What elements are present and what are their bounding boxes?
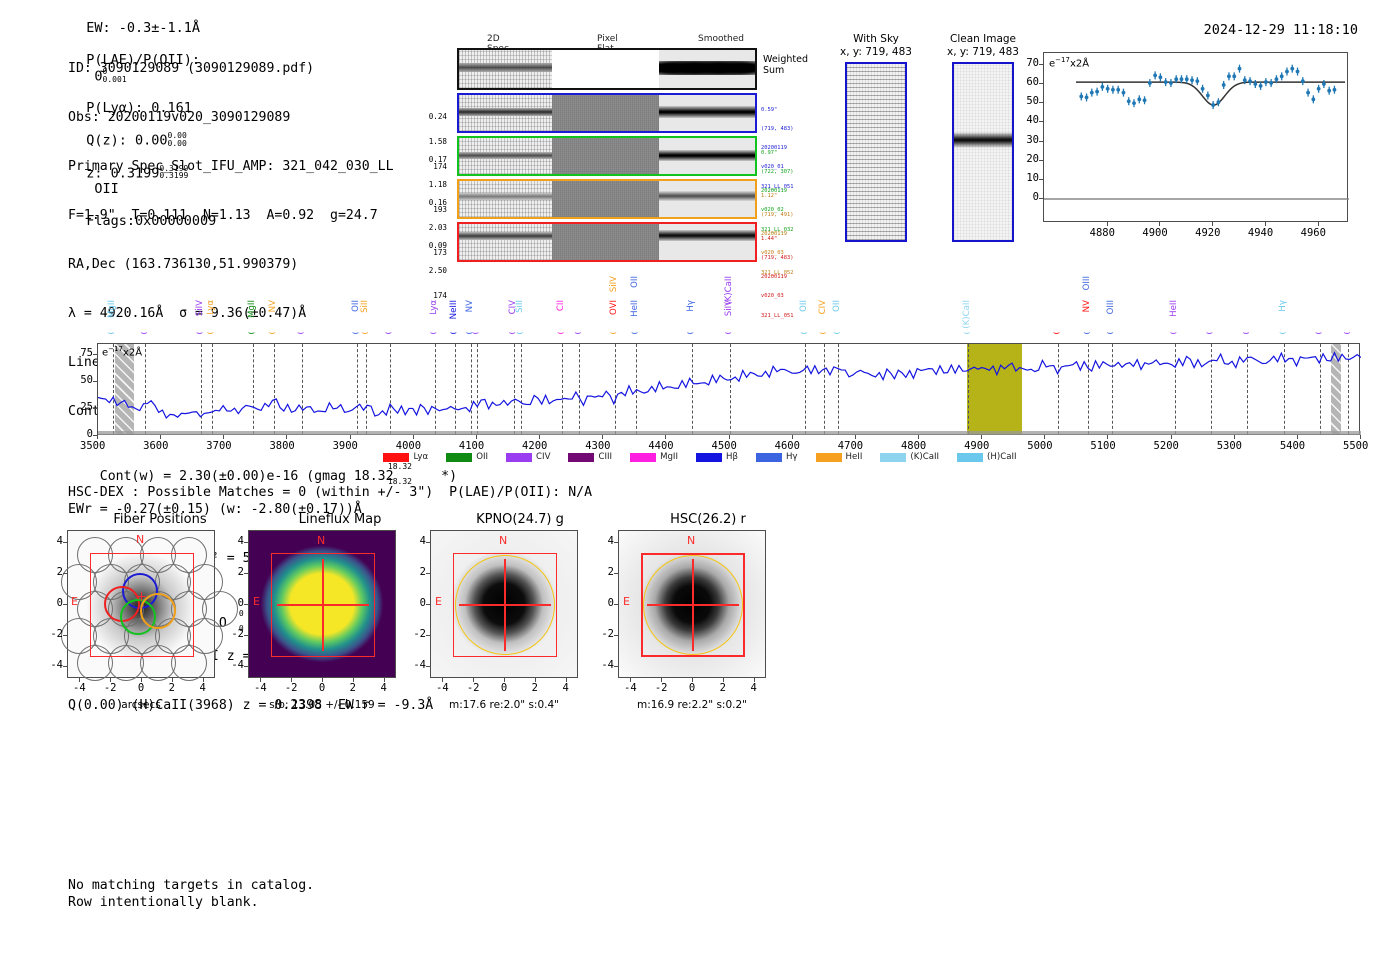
tick-label: 2 bbox=[714, 682, 732, 694]
line-brace: ⌣ bbox=[269, 326, 276, 340]
with-sky-image bbox=[845, 62, 907, 242]
tick-label: 2 bbox=[43, 566, 63, 578]
legend-label: CIII bbox=[598, 452, 612, 462]
x-tick bbox=[1318, 222, 1319, 226]
timestamp: 2024-12-29 11:18:10 bbox=[1204, 22, 1358, 38]
y-tick bbox=[93, 381, 97, 382]
panel-y-tick bbox=[426, 635, 430, 636]
panel-y-tick bbox=[244, 635, 248, 636]
spectrum-line-label-CIV: CIV bbox=[818, 300, 828, 314]
fiber-1-meta-1: (719, 483) bbox=[761, 126, 793, 132]
fiber-row-4 bbox=[457, 222, 757, 262]
tick-label: 4 bbox=[375, 682, 393, 694]
fiber-4-meta-1: (719, 483) bbox=[761, 255, 793, 261]
tick-label: 4920 bbox=[1195, 227, 1220, 239]
line-brace: ⌣ bbox=[196, 326, 203, 340]
panel-y-tick bbox=[244, 573, 248, 574]
tick-label: -4 bbox=[70, 682, 88, 694]
spectrum-line-label-NV: NV bbox=[268, 300, 278, 312]
fiber-positions-plot: N E bbox=[67, 530, 215, 678]
tick-label: 4400 bbox=[648, 440, 673, 452]
line-brace: ⌣ bbox=[1343, 326, 1350, 340]
legend-label: MgII bbox=[660, 452, 678, 462]
spectrum-line-label-OVI: OVI bbox=[609, 300, 619, 315]
spectrum-line-label-OII: OII bbox=[799, 300, 809, 312]
legend-swatch bbox=[446, 453, 472, 462]
tick-label: 2 bbox=[594, 566, 614, 578]
compass-e-3: E bbox=[435, 595, 442, 608]
spectrum-line-label-HeII: HeII bbox=[1169, 300, 1179, 317]
tick-label: 4200 bbox=[522, 440, 547, 452]
tick-label: 4 bbox=[745, 682, 763, 694]
line-brace: ⌣ bbox=[1279, 326, 1286, 340]
line-brace: ⌣ bbox=[1083, 326, 1090, 340]
line-brace: ⌣ bbox=[963, 326, 970, 340]
y-tick bbox=[1039, 64, 1043, 65]
line-brace: ⌣ bbox=[516, 326, 523, 340]
plae-frac-top: 0 bbox=[239, 609, 244, 618]
fiber-3-stat-0: 0.16 bbox=[399, 199, 447, 207]
line-brace: ⌣ bbox=[207, 326, 214, 340]
panel-y-tick bbox=[426, 542, 430, 543]
tick-label: 4880 bbox=[1090, 227, 1115, 239]
tick-label: -4 bbox=[433, 682, 451, 694]
spectrum-line-label-NV: NV bbox=[1082, 300, 1092, 312]
tick-label: 50 bbox=[71, 374, 93, 386]
weighted-sum-smoothed bbox=[659, 50, 755, 88]
tick-label: 4 bbox=[224, 535, 244, 547]
tick-label: -2 bbox=[224, 628, 244, 640]
tick-label: -4 bbox=[621, 682, 639, 694]
legend-label: HeII bbox=[846, 452, 863, 462]
info-line-id: ID: 3090129089 (3090129089.pdf) bbox=[68, 61, 457, 77]
tick-label: 4 bbox=[43, 535, 63, 547]
tick-label: 2 bbox=[224, 566, 244, 578]
tick-label: 4500 bbox=[712, 440, 737, 452]
tick-label: 4900 bbox=[964, 440, 989, 452]
spectrum-line-label-SiIV: SiIV bbox=[195, 300, 205, 316]
fiber-row-4-meta: 1.44" (719, 483) 20200119 v020_03 321_LL… bbox=[761, 223, 793, 332]
line-brace: ⌣ bbox=[1315, 326, 1322, 340]
legend-swatch bbox=[880, 453, 906, 462]
spectrum-line-label-NV: NV bbox=[465, 300, 475, 312]
panel-xlabel-arcsecs: arcsecs bbox=[70, 699, 212, 711]
spectrum-line-label-CII: CII bbox=[556, 300, 566, 311]
spectrum-line-label-SiIV: SiIV bbox=[724, 300, 734, 316]
y-tick bbox=[93, 354, 97, 355]
tick-label: 3700 bbox=[206, 440, 231, 452]
spectrum-line-label-Hγ: Hγ bbox=[1278, 300, 1288, 312]
legend-item-OII: OII bbox=[446, 452, 488, 462]
spectrum-line-label-Hγ: Hγ bbox=[686, 300, 696, 312]
with-sky-coords: x, y: 719, 483 bbox=[840, 46, 912, 58]
clean-image-title: Clean Image bbox=[950, 33, 1016, 45]
tick-label: 5100 bbox=[1090, 440, 1115, 452]
line-fit-zoom-plot: e−17x2Å bbox=[1043, 52, 1348, 222]
tick-label: -2 bbox=[406, 628, 426, 640]
tick-label: 10 bbox=[1019, 172, 1039, 184]
tick-label: 0 bbox=[406, 597, 426, 609]
panel-caption-kpno: m:17.6 re:2.0" s:0.4" bbox=[424, 699, 584, 711]
tick-label: 2 bbox=[163, 682, 181, 694]
tick-label: -4 bbox=[224, 659, 244, 671]
clean-image-coords: x, y: 719, 483 bbox=[947, 46, 1019, 58]
compass-e-4: E bbox=[623, 595, 630, 608]
legend-swatch bbox=[816, 453, 842, 462]
weighted-sum-2dspec bbox=[459, 50, 552, 88]
tick-label: 0 bbox=[132, 682, 150, 694]
tick-label: 5200 bbox=[1154, 440, 1179, 452]
tick-label: 4000 bbox=[396, 440, 421, 452]
x-tick bbox=[1107, 222, 1108, 226]
panel-y-tick bbox=[63, 635, 67, 636]
line-brace: ⌣ bbox=[430, 326, 437, 340]
legend-item-Lyα: Lyα bbox=[383, 452, 428, 462]
fiber-4-meta-3: v020_03 bbox=[761, 293, 793, 299]
tick-label: 70 bbox=[1019, 57, 1039, 69]
tick-label: 25 bbox=[71, 401, 93, 413]
tick-label: 4 bbox=[594, 535, 614, 547]
line-brace: ⌣ bbox=[725, 326, 732, 340]
y-tick bbox=[1039, 83, 1043, 84]
panel-caption-lineflux: s/b: 13.05 +/- 0.159 bbox=[244, 699, 400, 711]
line-brace: ⌣ bbox=[833, 326, 840, 340]
legend-item-HeII: HeII bbox=[816, 452, 863, 462]
line-brace: ⌣ bbox=[361, 326, 368, 340]
y-tick bbox=[1039, 141, 1043, 142]
tick-label: 40 bbox=[1019, 114, 1039, 126]
tick-label: 3900 bbox=[333, 440, 358, 452]
line-brace: ⌣ bbox=[610, 326, 617, 340]
line-brace: ⌣ bbox=[450, 326, 457, 340]
legend-item-Hγ: Hγ bbox=[756, 452, 798, 462]
legend-label: OII bbox=[476, 452, 488, 462]
line-brace: ⌣ bbox=[1206, 326, 1213, 340]
tick-label: 5500 bbox=[1343, 440, 1368, 452]
panel-y-tick bbox=[426, 666, 430, 667]
spectrum-line-label-OII: OII bbox=[832, 300, 842, 312]
x-tick bbox=[1212, 222, 1213, 226]
tick-label: 3500 bbox=[80, 440, 105, 452]
spectrum-line-label-SiII: SiII bbox=[360, 300, 370, 313]
weighted-sum-label: Weighted Sum bbox=[763, 54, 808, 76]
panel-title-fiber-positions: Fiber Positions bbox=[60, 512, 260, 527]
tick-label: 0 bbox=[683, 682, 701, 694]
compass-n-3: N bbox=[499, 534, 507, 547]
tick-label: -4 bbox=[251, 682, 269, 694]
line-brace: ⌣ bbox=[631, 326, 638, 340]
spectrum-line-label-SiII: SiII bbox=[515, 300, 525, 313]
tick-label: 3800 bbox=[269, 440, 294, 452]
tick-label: 5400 bbox=[1280, 440, 1305, 452]
tick-label: 4700 bbox=[838, 440, 863, 452]
tick-label: 2 bbox=[406, 566, 426, 578]
panel-y-tick bbox=[63, 542, 67, 543]
legend-label: CIV bbox=[536, 452, 550, 462]
fiber-4-meta-2: 20200119 bbox=[761, 274, 793, 280]
tick-label: 0 bbox=[43, 597, 63, 609]
legend-item-Hβ: Hβ bbox=[696, 452, 738, 462]
fiber-2-stat-0: 0.17 bbox=[399, 156, 447, 164]
line-brace: ⌣ bbox=[1053, 326, 1060, 340]
tick-label: -2 bbox=[43, 628, 63, 640]
x-tick bbox=[1159, 222, 1160, 226]
tick-label: 5300 bbox=[1217, 440, 1242, 452]
tick-label: -4 bbox=[406, 659, 426, 671]
stamp-title-with-sky: With Sky x, y: 719, 483 bbox=[826, 33, 926, 58]
full-spectrum-plot: e−17x2Å bbox=[97, 343, 1360, 435]
line-brace: ⌣ bbox=[574, 326, 581, 340]
tick-label: 4600 bbox=[775, 440, 800, 452]
legend-swatch bbox=[568, 453, 594, 462]
compass-n-1: N bbox=[136, 533, 144, 546]
hsc-r-cutout: N E bbox=[618, 530, 766, 678]
fiber-4-stat-0: 0.09 bbox=[399, 242, 447, 250]
tick-label: 75 bbox=[71, 347, 93, 359]
panel-y-tick bbox=[614, 573, 618, 574]
fiber-circle-orange bbox=[140, 593, 176, 629]
col-header-smoothed: Smoothed bbox=[698, 34, 744, 44]
line-brace: ⌣ bbox=[1170, 326, 1177, 340]
panel-y-tick bbox=[244, 604, 248, 605]
fiber-3-meta-0: 1.12" bbox=[761, 193, 793, 199]
fiber-2-meta-0: 0.97" bbox=[761, 150, 793, 156]
panel-title-hsc-r: HSC(26.2) r bbox=[608, 512, 808, 527]
x-tick bbox=[1265, 222, 1266, 226]
line-brace: ⌣ bbox=[352, 326, 359, 340]
spectrum-line-label-(K)CaII: (K)CaII bbox=[962, 300, 972, 329]
panel-y-tick bbox=[244, 542, 248, 543]
legend-label: Hβ bbox=[726, 452, 738, 462]
y-tick bbox=[93, 408, 97, 409]
fiber-1-stat-0: 0.24 bbox=[399, 113, 447, 121]
fiber-2-meta-1: (722, 307) bbox=[761, 169, 793, 175]
panel-title-lineflux-map: Lineflux Map bbox=[240, 512, 440, 527]
fiber-4-meta-0: 1.44" bbox=[761, 236, 793, 242]
legend-swatch bbox=[957, 453, 983, 462]
panel-title-kpno-g: KPNO(24.7) g bbox=[420, 512, 620, 527]
tick-label: -2 bbox=[594, 628, 614, 640]
tick-label: -2 bbox=[282, 682, 300, 694]
line-brace: ⌣ bbox=[1107, 326, 1114, 340]
panel-caption-hsc: m:16.9 re:2.2" s:0.2" bbox=[612, 699, 772, 711]
panel-y-tick bbox=[63, 604, 67, 605]
line-brace: ⌣ bbox=[800, 326, 807, 340]
panel-y-tick bbox=[614, 542, 618, 543]
line-brace: ⌣ bbox=[248, 326, 255, 340]
tick-label: 4100 bbox=[459, 440, 484, 452]
spectrum-line-label-OIII: OIII bbox=[1106, 300, 1116, 314]
tick-label: 0 bbox=[71, 428, 93, 440]
y-tick bbox=[1039, 121, 1043, 122]
fiber-4-stat-2: 174 bbox=[399, 292, 447, 300]
line-brace: ⌣ bbox=[819, 326, 826, 340]
tick-label: 0 bbox=[1019, 191, 1039, 203]
panel-y-tick bbox=[244, 666, 248, 667]
tick-label: -4 bbox=[594, 659, 614, 671]
lineflux-map-plot: N E bbox=[248, 530, 396, 678]
legend-swatch bbox=[756, 453, 782, 462]
fiber-3-meta-1: (719, 491) bbox=[761, 212, 793, 218]
line-brace: ⌣ bbox=[297, 326, 304, 340]
tick-label: 4900 bbox=[1142, 227, 1167, 239]
panel-y-tick bbox=[614, 666, 618, 667]
spectrum-line-label-NeIII: NeIII bbox=[449, 300, 459, 319]
line-brace: ⌣ bbox=[140, 326, 147, 340]
spectrum-line-label-HeII: HeII bbox=[630, 300, 640, 317]
tick-label: 4960 bbox=[1301, 227, 1326, 239]
fiber-row-1 bbox=[457, 93, 757, 133]
y-tick bbox=[1039, 198, 1043, 199]
spectrum-legend: LyαOIICIVCIIIMgIIHβHγHeII(K)CaII(H)CaII bbox=[0, 452, 1400, 462]
tick-label: 2 bbox=[344, 682, 362, 694]
spectrum-line-label-OII: OII bbox=[630, 276, 640, 288]
bottom-note: No matching targets in catalog. Row inte… bbox=[68, 877, 314, 911]
legend-swatch bbox=[506, 453, 532, 462]
legend-item-CIV: CIV bbox=[506, 452, 550, 462]
spectrum-line-label-OIII: OIII bbox=[1082, 276, 1092, 290]
y-tick bbox=[1039, 160, 1043, 161]
tick-label: 4300 bbox=[585, 440, 610, 452]
legend-swatch bbox=[383, 453, 409, 462]
hsc-dex-line: HSC-DEX : Possible Matches = 0 (within +… bbox=[68, 485, 592, 500]
tick-label: 2 bbox=[526, 682, 544, 694]
compass-e-1: E bbox=[71, 595, 78, 608]
y-tick bbox=[93, 435, 97, 436]
tick-label: 4800 bbox=[901, 440, 926, 452]
spectrum-line-label-Lyα: Lyα bbox=[206, 300, 216, 315]
legend-item-(K)CaII: (K)CaII bbox=[880, 452, 939, 462]
tick-label: 4940 bbox=[1248, 227, 1273, 239]
legend-label: (K)CaII bbox=[910, 452, 939, 462]
tick-label: 3600 bbox=[143, 440, 168, 452]
tick-label: 5000 bbox=[1027, 440, 1052, 452]
clean-image-image bbox=[952, 62, 1014, 242]
legend-swatch bbox=[630, 453, 656, 462]
with-sky-title: With Sky bbox=[853, 33, 899, 45]
tick-label: -2 bbox=[464, 682, 482, 694]
tick-label: 60 bbox=[1019, 76, 1039, 88]
tick-label: -4 bbox=[43, 659, 63, 671]
weighted-sum-row bbox=[457, 48, 757, 90]
line-brace: ⌣ bbox=[557, 326, 564, 340]
tick-label: 50 bbox=[1019, 95, 1039, 107]
fiber-4-meta-4: 321_LL_051 bbox=[761, 313, 793, 319]
tick-label: -2 bbox=[101, 682, 119, 694]
y-tick bbox=[1039, 179, 1043, 180]
legend-swatch bbox=[696, 453, 722, 462]
compass-n-2: N bbox=[317, 534, 325, 547]
gmag-frac-top: 18.32 bbox=[388, 462, 412, 471]
zoomplot-canvas bbox=[1044, 53, 1349, 223]
tick-label: 0 bbox=[594, 597, 614, 609]
panel-y-tick bbox=[426, 604, 430, 605]
fiber-row-2 bbox=[457, 136, 757, 176]
line-brace: ⌣ bbox=[509, 326, 516, 340]
spectrum-line-label-Lyα: Lyα bbox=[429, 300, 439, 315]
tick-label: 4 bbox=[406, 535, 426, 547]
line-brace: ⌣ bbox=[385, 326, 392, 340]
spectrum-line-label-SiIV: SiIV bbox=[609, 276, 619, 292]
kpno-g-cutout: N E bbox=[430, 530, 578, 678]
line-brace: ⌣ bbox=[1242, 326, 1249, 340]
fiber-row-3 bbox=[457, 179, 757, 219]
mainspec-units: e−17x2Å bbox=[102, 345, 142, 358]
tick-label: 0 bbox=[313, 682, 331, 694]
panel-y-tick bbox=[426, 573, 430, 574]
tick-label: 20 bbox=[1019, 153, 1039, 165]
tick-label: 0 bbox=[495, 682, 513, 694]
panel-y-tick bbox=[614, 635, 618, 636]
compass-n-4: N bbox=[687, 534, 695, 547]
legend-label: Lyα bbox=[413, 452, 428, 462]
line-brace: ⌣ bbox=[108, 326, 115, 340]
spectrum-line-label-MgII: MgII bbox=[247, 300, 257, 318]
spectrum-line-label-MgII: MgII bbox=[107, 300, 117, 318]
tick-label: -2 bbox=[652, 682, 670, 694]
fiber-row-4-stats: 0.09 2.50 174 bbox=[399, 225, 447, 317]
legend-item-MgII: MgII bbox=[630, 452, 678, 462]
panel-y-tick bbox=[63, 573, 67, 574]
y-tick bbox=[1039, 102, 1043, 103]
tick-label: 4 bbox=[557, 682, 575, 694]
legend-item-(H)CaII: (H)CaII bbox=[957, 452, 1017, 462]
tick-label: 4 bbox=[194, 682, 212, 694]
panel-y-tick bbox=[63, 666, 67, 667]
compass-e-2: E bbox=[253, 595, 260, 608]
line-brace: ⌣ bbox=[687, 326, 694, 340]
stamp-title-clean-image: Clean Image x, y: 719, 483 bbox=[928, 33, 1038, 58]
line-brace: ⌣ bbox=[472, 326, 479, 340]
fiber-4-stat-1: 2.50 bbox=[399, 267, 447, 275]
legend-label: (H)CaII bbox=[987, 452, 1017, 462]
fiber-1-meta-0: 0.59" bbox=[761, 107, 793, 113]
tick-label: 0 bbox=[224, 597, 244, 609]
tick-label: 30 bbox=[1019, 134, 1039, 146]
legend-label: Hγ bbox=[786, 452, 798, 462]
panel-y-tick bbox=[614, 604, 618, 605]
legend-item-CIII: CIII bbox=[568, 452, 612, 462]
weighted-sum-pixelflat bbox=[552, 50, 659, 88]
